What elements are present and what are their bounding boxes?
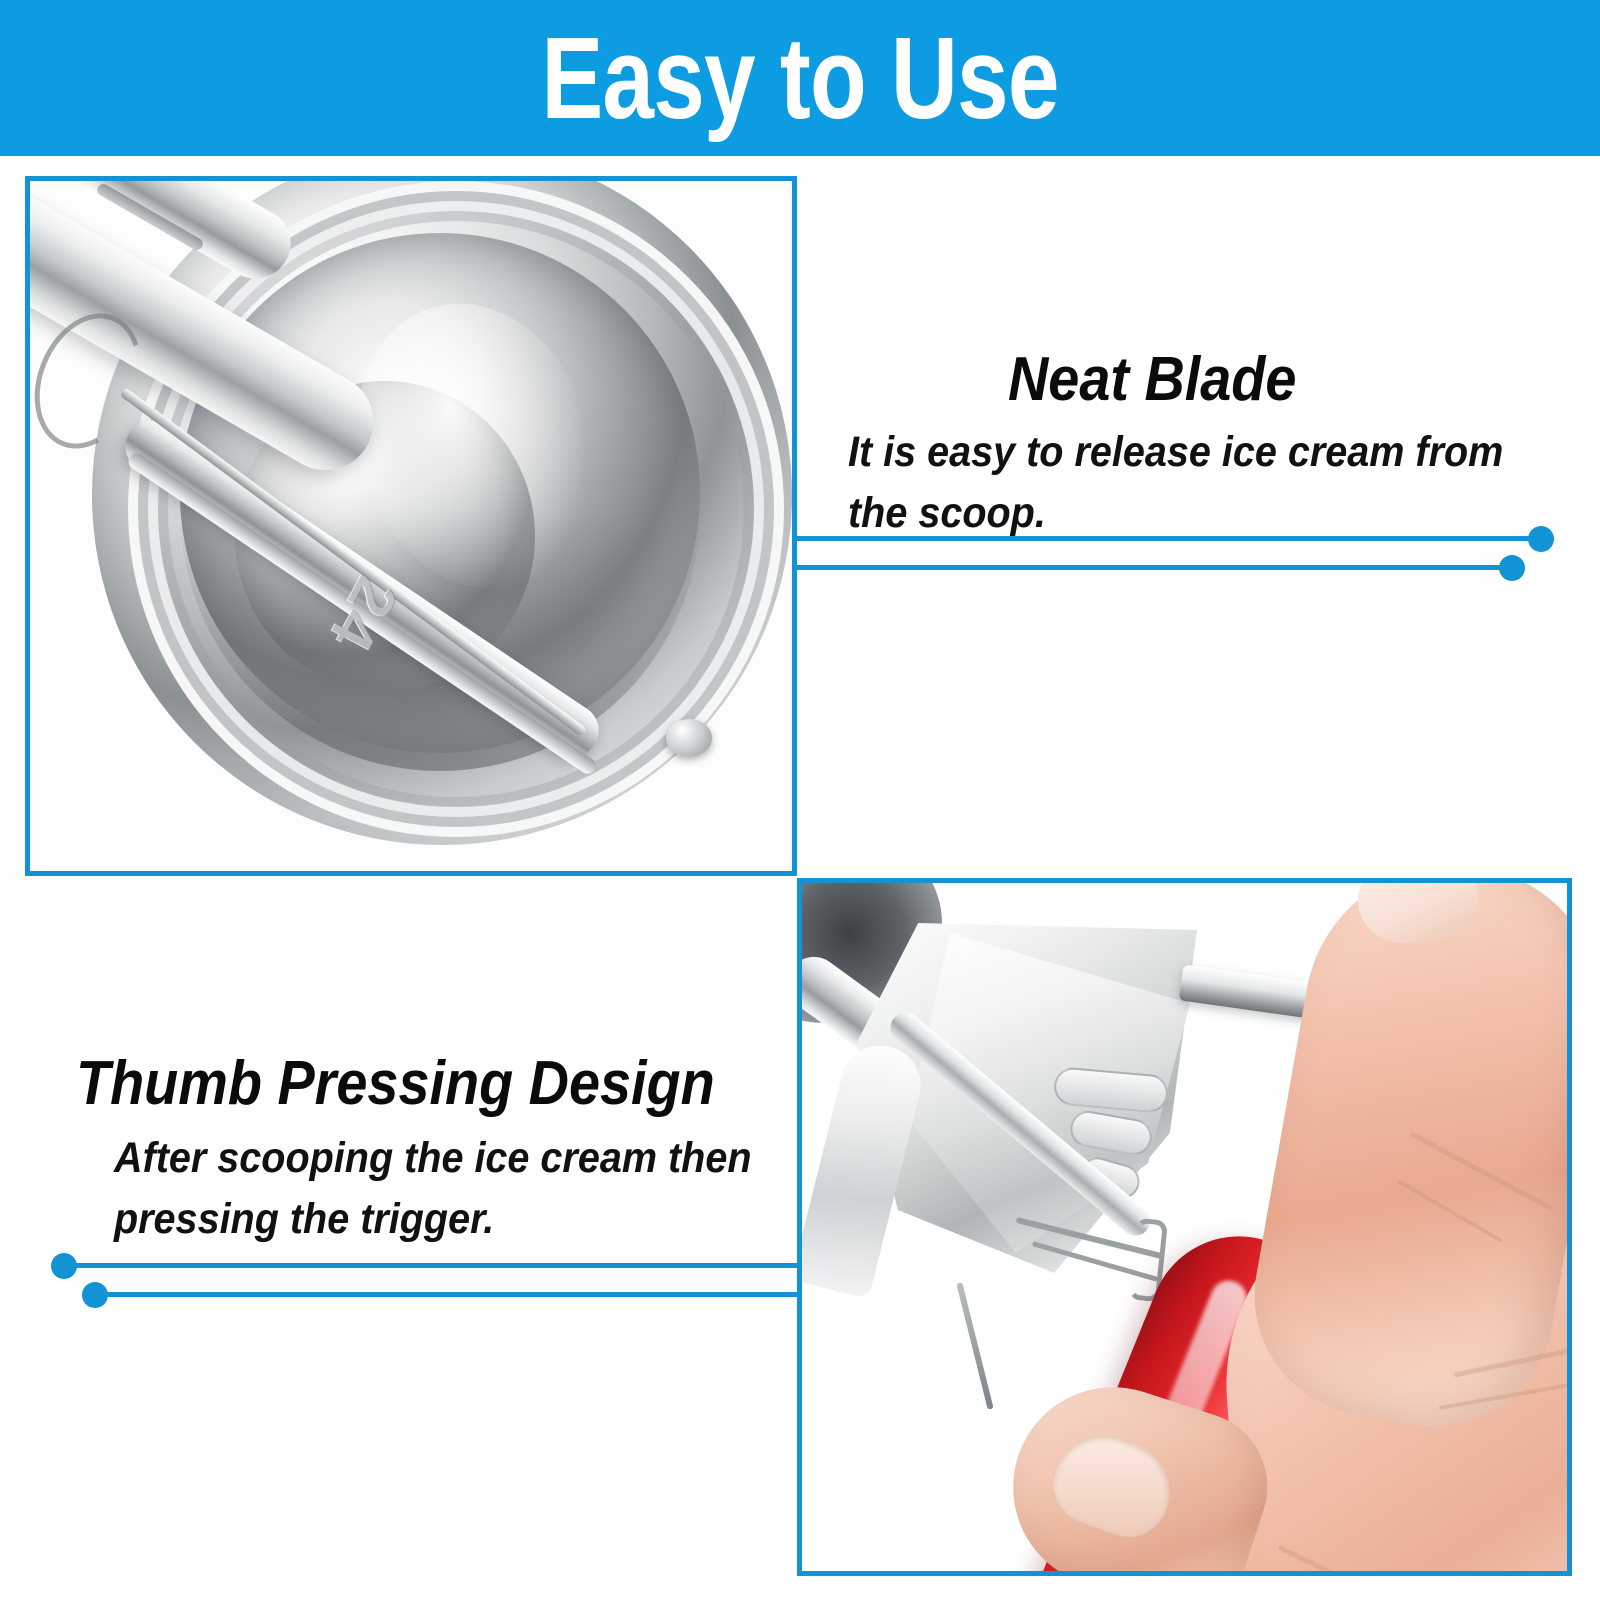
photo-panel-neat-blade: 24 bbox=[25, 176, 797, 876]
connector-dot-thumb-pressing-2 bbox=[82, 1282, 108, 1308]
connector-line-thumb-pressing-2 bbox=[95, 1292, 799, 1297]
blade-pivot-rivet bbox=[666, 719, 712, 757]
scoop-bowl-photo: 24 bbox=[30, 181, 792, 871]
feature-heading-thumb-pressing-design: Thumb Pressing Design bbox=[76, 1052, 715, 1116]
connector-dot-neat-blade-2 bbox=[1499, 555, 1525, 581]
feature-heading-neat-blade: Neat Blade bbox=[1008, 348, 1296, 412]
connector-line-neat-blade-2 bbox=[793, 565, 1512, 570]
feature-body-neat-blade: It is easy to release ice cream from the… bbox=[848, 422, 1547, 544]
header-banner: Easy to Use bbox=[0, 0, 1600, 156]
connector-line-neat-blade-1 bbox=[793, 536, 1541, 541]
trigger-needle bbox=[956, 1282, 993, 1410]
page-title: Easy to Use bbox=[160, 0, 1440, 156]
connector-dot-thumb-pressing-1 bbox=[51, 1253, 77, 1279]
connector-line-thumb-pressing-1 bbox=[64, 1263, 799, 1268]
feature-body-thumb-pressing-design: After scooping the ice cream then pressi… bbox=[114, 1128, 758, 1250]
connector-dot-neat-blade-1 bbox=[1528, 526, 1554, 552]
hand-holding-scoop-photo bbox=[802, 883, 1567, 1571]
photo-panel-thumb-pressing bbox=[797, 878, 1572, 1576]
infographic-canvas: Easy to Use 24 bbox=[0, 0, 1600, 1600]
